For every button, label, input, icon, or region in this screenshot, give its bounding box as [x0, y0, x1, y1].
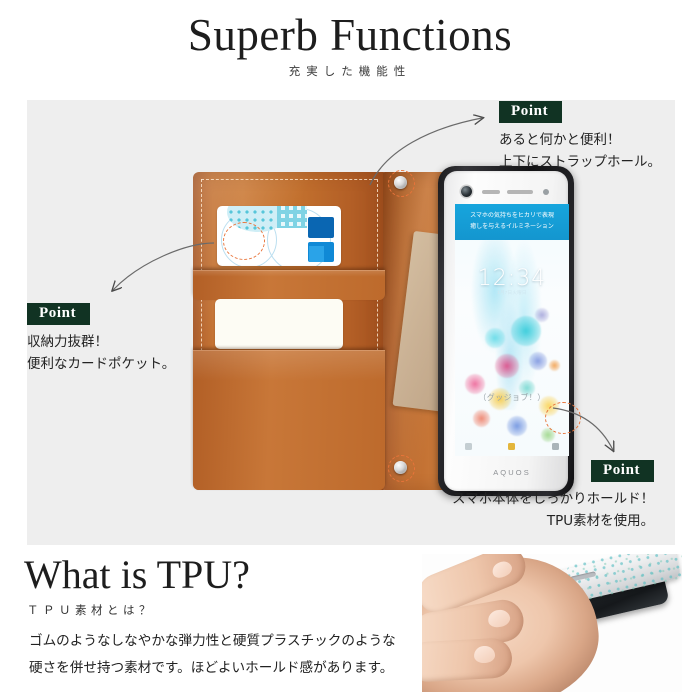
phone-front-body: スマホの気持ちをヒカリで表現 癒しを与えるイルミネーション 12:34 1月7日…	[444, 171, 568, 491]
card-white-blank	[215, 299, 343, 349]
nav-camera-icon	[552, 443, 559, 450]
smartphone-in-tpu-case: スマホの気持ちをヒカリで表現 癒しを与えるイルミネーション 12:34 1月7日…	[438, 166, 574, 496]
card-check-pattern-icon	[277, 206, 307, 228]
point-badge-strap: Point	[499, 101, 562, 123]
speaker-grille-icon	[507, 190, 533, 194]
proximity-sensor-icon	[543, 189, 549, 195]
tpu-subtitle: ＴＰＵ素材とは？	[27, 602, 155, 618]
callout-strap-text: あると何かと便利！ 上下にストラップホール。	[499, 129, 661, 173]
card-slot-upper	[193, 270, 385, 300]
callout-card-pocket: Point 収納力抜群！ 便利なカードポケット。	[27, 303, 175, 375]
callout-strap-line-2: 上下にストラップホール。	[499, 151, 661, 173]
callout-tpu-hold-line-1: スマホ本体をしっかりホールド！	[452, 488, 654, 510]
card-slot-lower	[193, 350, 385, 490]
banner-line-2: 癒しを与えるイルミネーション	[455, 221, 569, 232]
card-square-dark-icon	[308, 217, 334, 238]
screen-caption: （グッジョブ！）	[455, 392, 569, 403]
stitch-top	[201, 179, 377, 180]
screen-nav-row	[455, 439, 569, 451]
nav-lock-icon	[508, 443, 515, 450]
lockscreen-clock: 12:34	[455, 266, 569, 291]
callout-tpu-hold-text: スマホ本体をしっかりホールド！ TPU素材を使用。	[452, 488, 654, 532]
tpu-hold-highlight-ring	[545, 402, 581, 434]
page-subtitle: 充実した機能性	[0, 63, 700, 79]
callout-card-pocket-line-1: 収納力抜群！	[27, 331, 175, 353]
product-feature-infographic: Superb Functions 充実した機能性	[0, 0, 700, 700]
callout-tpu-hold-line-2: TPU素材を使用。	[452, 510, 654, 532]
point-badge-card-pocket: Point	[27, 303, 90, 325]
demo-ring-finger	[422, 637, 513, 682]
tpu-body-text: ゴムのようなしなやかな弾力性と硬質プラスチックのような 硬さを併せ持つ素材です。…	[29, 628, 421, 682]
front-camera-icon	[461, 186, 472, 197]
snap-button-top	[394, 176, 407, 189]
banner-line-1: スマホの気持ちをヒカリで表現	[455, 210, 569, 221]
card-pocket-highlight-ring	[223, 222, 265, 260]
nav-left-icon	[465, 443, 472, 450]
tpu-body-line-2: 硬さを併せ持つ素材です。ほどよいホールド感があります。	[29, 655, 421, 682]
tpu-flex-demo-photo	[422, 554, 682, 692]
callout-strap-line-1: あると何かと便利！	[499, 129, 661, 151]
point-badge-tpu-hold: Point	[591, 460, 654, 482]
card-square-light-icon	[309, 246, 324, 262]
screen-banner: スマホの気持ちをヒカリで表現 癒しを与えるイルミネーション	[455, 204, 569, 240]
callout-tpu-hold: Point スマホ本体をしっかりホールド！ TPU素材を使用。	[452, 460, 654, 532]
callout-card-pocket-text: 収納力抜群！ 便利なカードポケット。	[27, 331, 175, 375]
tpu-body-line-1: ゴムのようなしなやかな弾力性と硬質プラスチックのような	[29, 628, 421, 655]
earpiece-grille-icon	[482, 190, 500, 194]
callout-strap-hole: Point あると何かと便利！ 上下にストラップホール。	[499, 101, 661, 173]
page-title: Superb Functions	[0, 8, 700, 62]
callout-card-pocket-line-2: 便利なカードポケット。	[27, 353, 175, 375]
snap-button-bottom	[394, 461, 407, 474]
tpu-title: What is TPU?	[24, 551, 250, 599]
lockscreen-date: 1月7日火曜日	[455, 290, 569, 296]
header: Superb Functions 充実した機能性	[0, 0, 700, 100]
